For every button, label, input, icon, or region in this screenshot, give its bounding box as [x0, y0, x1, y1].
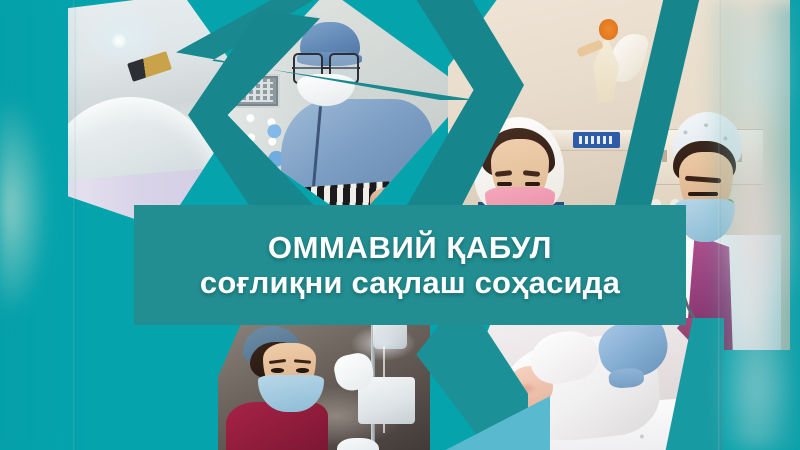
nurse-eye-left: [497, 182, 512, 186]
nurse-gloved-hand-lower: [337, 438, 379, 450]
left-gradient-panel: [0, 0, 78, 450]
left-panel-seam: [73, 0, 76, 450]
right-panel-seam: [718, 0, 721, 450]
promotional-poster: ОММАВИЙ ҚАБУЛ соғлиқни сақлаш соҳасида: [0, 0, 800, 450]
nurse-eye-right: [525, 182, 540, 186]
nurse-eye-left: [271, 368, 284, 372]
photo-nurse-iv-drip: [218, 318, 430, 450]
doctor-eye: [688, 192, 718, 196]
nurse-eye-right: [296, 368, 309, 372]
headline-banner: ОММАВИЙ ҚАБУЛ соғлиқни сақлаш соҳасида: [134, 205, 686, 325]
wall-sign: [573, 132, 620, 148]
headline-primary: ОММАВИЙ ҚАБУЛ: [268, 232, 552, 263]
angel-mural-hair: [599, 19, 618, 39]
headline-secondary: соғлиқни сақлаш соҳасида: [200, 267, 620, 298]
